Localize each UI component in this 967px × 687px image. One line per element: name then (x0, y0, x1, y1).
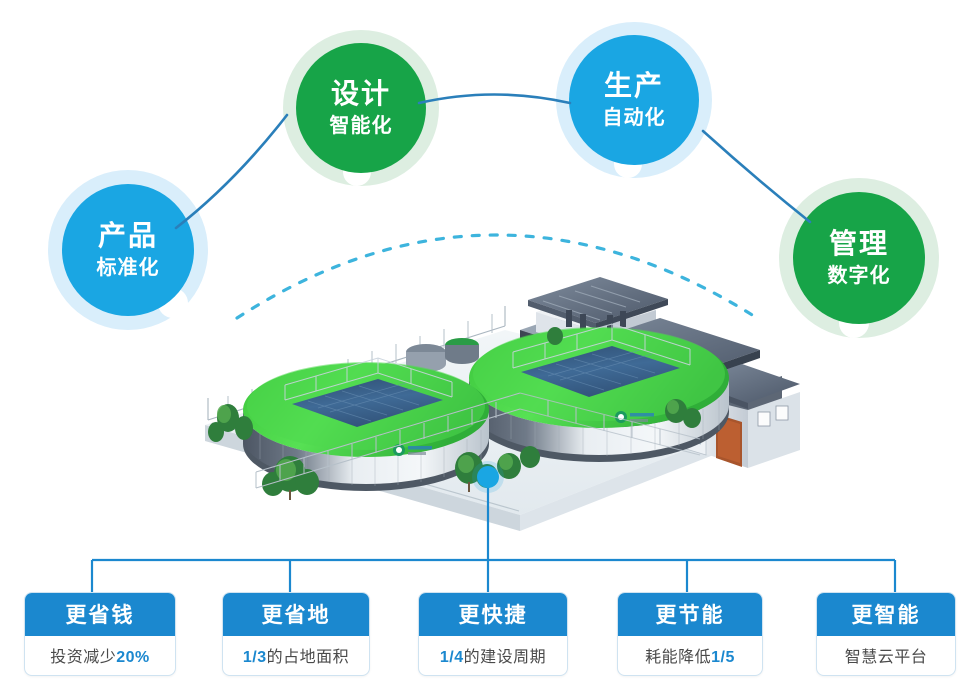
infographic-canvas: 产品 标准化 设计 智能化 生产 自动化 管理 数字化 更省钱 投资减少20% … (0, 0, 967, 687)
hub-distribution (0, 0, 967, 687)
benefit-connector-lines (92, 478, 895, 592)
hub-dot[interactable] (477, 466, 499, 488)
